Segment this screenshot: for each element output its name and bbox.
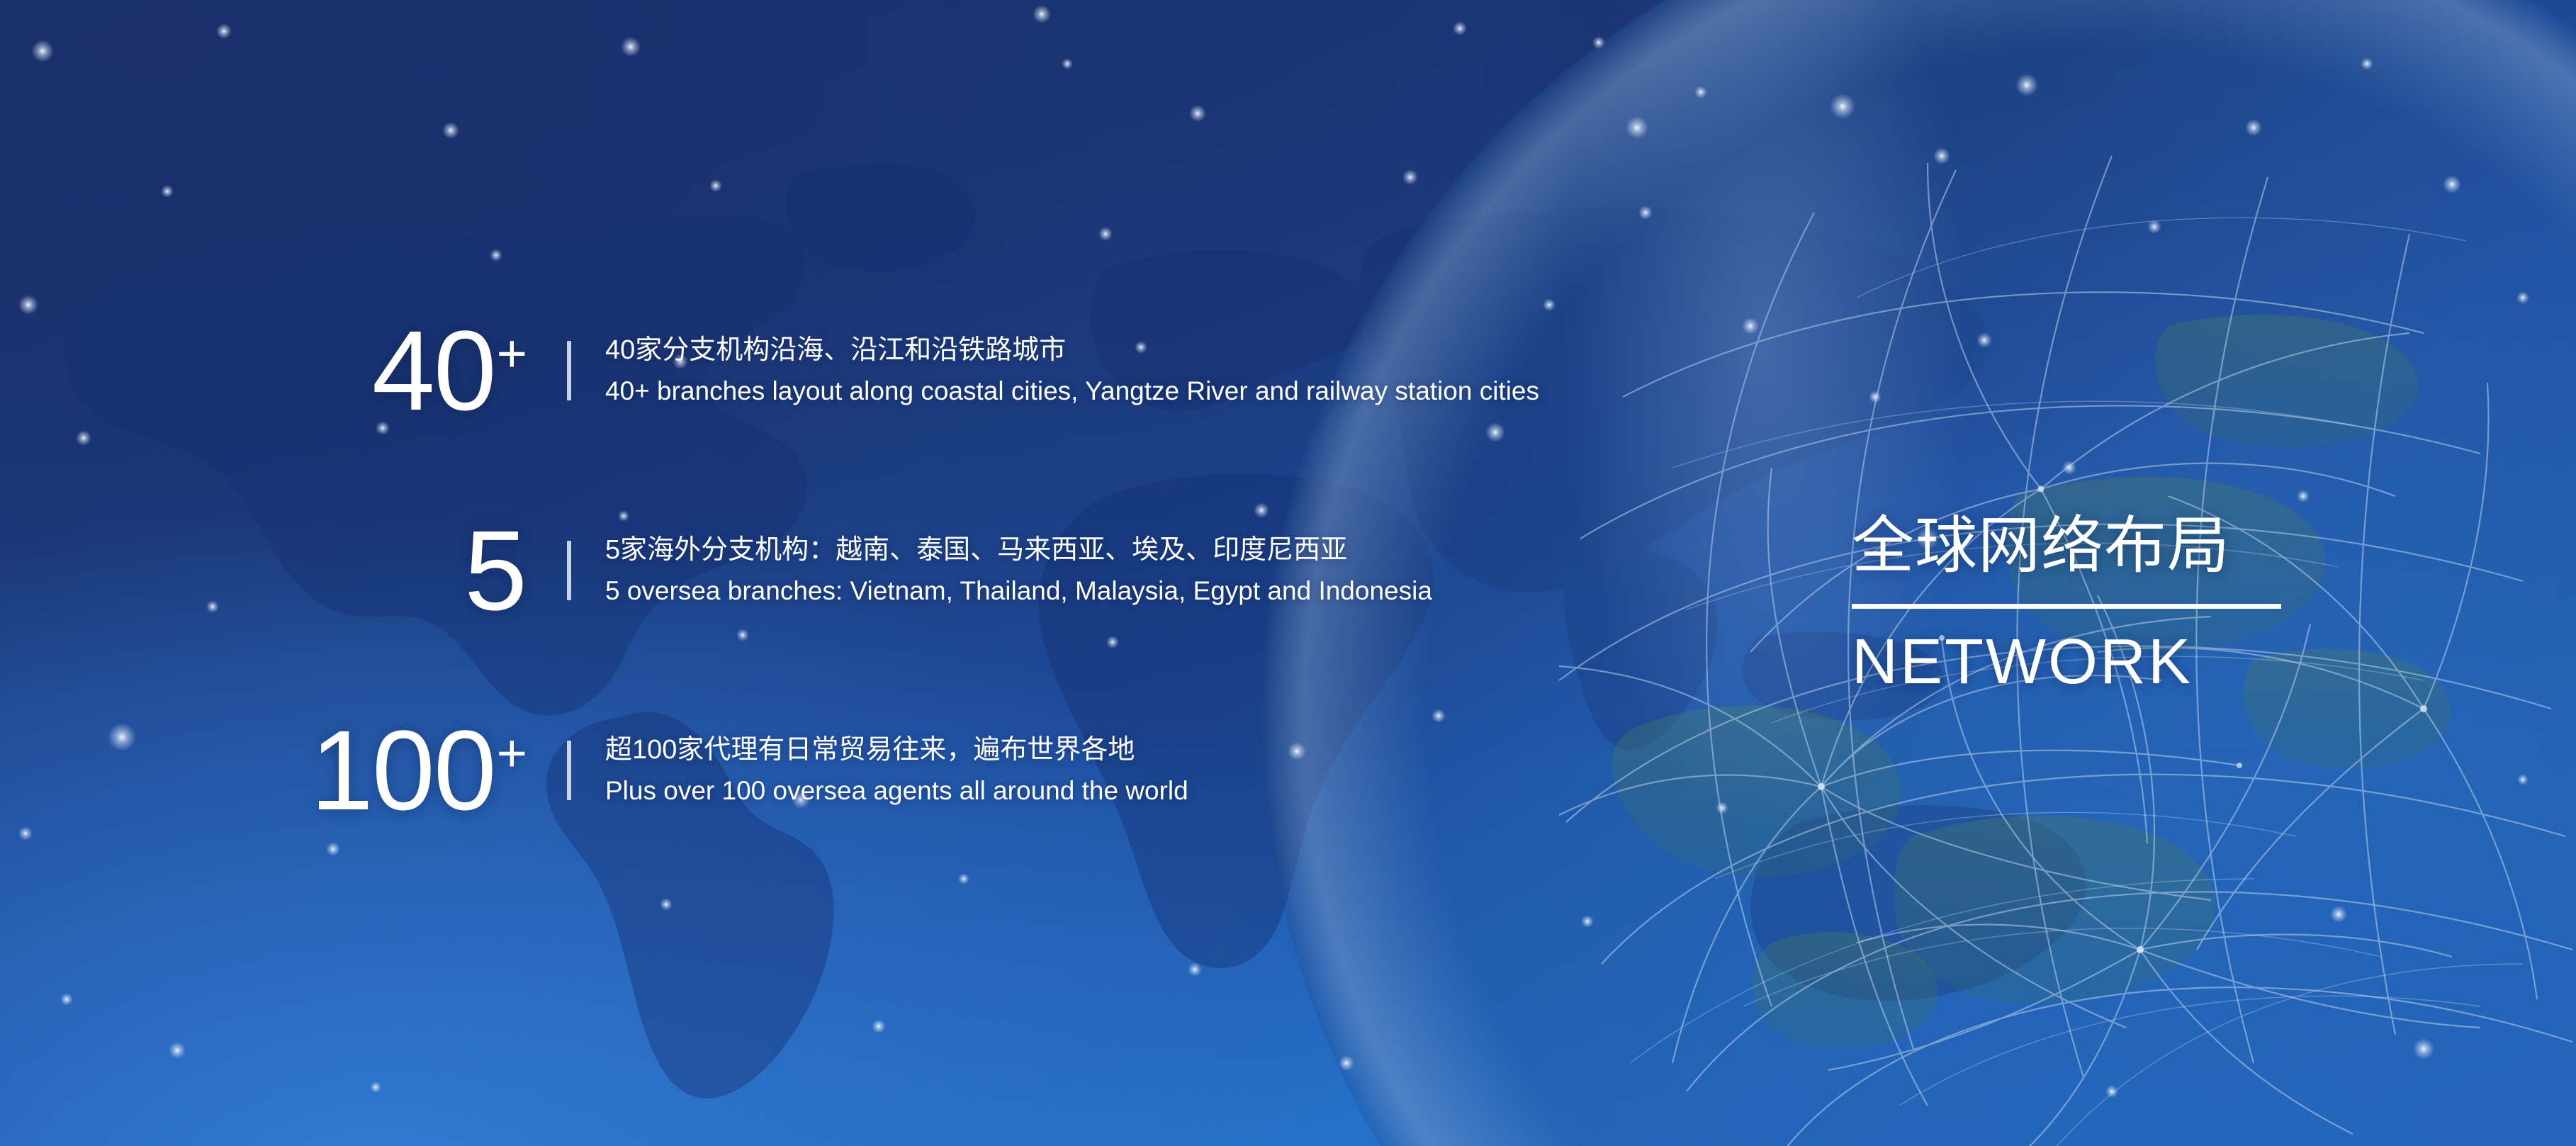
- stat-number-suffix: +: [497, 724, 527, 782]
- stats-list: 40+ 40家分支机构沿海、沿江和沿铁路城市 40+ branches layo…: [0, 306, 1630, 835]
- stat-number-value: 100: [310, 707, 495, 833]
- stat-text: 40家分支机构沿海、沿江和沿铁路城市 40+ branches layout a…: [571, 332, 1539, 410]
- stat-number-value: 5: [464, 507, 526, 634]
- title-chinese: 全球网络布局: [1852, 515, 2291, 577]
- title-underline: [1852, 604, 2281, 609]
- stat-text-cn: 5家海外分支机构：越南、泰国、马来西亚、埃及、印度尼西亚: [605, 532, 1432, 570]
- stat-row: 100+ 超100家代理有日常贸易往来，遍布世界各地 Plus over 100…: [0, 706, 1630, 835]
- stat-text-en: Plus over 100 oversea agents all around …: [605, 773, 1188, 810]
- stat-text-en: 40+ branches layout along coastal cities…: [605, 373, 1539, 410]
- stat-number: 100+: [0, 714, 567, 827]
- network-title-block: 全球网络布局 NETWORK: [1852, 515, 2291, 694]
- stat-number: 40+: [0, 314, 567, 427]
- stat-number: 5: [0, 514, 567, 627]
- stat-text: 超100家代理有日常贸易往来，遍布世界各地 Plus over 100 over…: [571, 731, 1188, 809]
- stat-text: 5家海外分支机构：越南、泰国、马来西亚、埃及、印度尼西亚 5 oversea b…: [571, 532, 1432, 609]
- stat-number-suffix: +: [497, 324, 527, 383]
- banner-content: 40+ 40家分支机构沿海、沿江和沿铁路城市 40+ branches layo…: [0, 0, 2576, 1146]
- global-network-banner: 40+ 40家分支机构沿海、沿江和沿铁路城市 40+ branches layo…: [0, 0, 2576, 1146]
- stat-text-cn: 超100家代理有日常贸易往来，遍布世界各地: [605, 731, 1188, 770]
- stat-number-value: 40: [372, 307, 495, 434]
- stat-text-en: 5 oversea branches: Vietnam, Thailand, M…: [605, 573, 1432, 610]
- stat-row: 5 5家海外分支机构：越南、泰国、马来西亚、埃及、印度尼西亚 5 oversea…: [0, 506, 1630, 635]
- title-english: NETWORK: [1852, 630, 2291, 694]
- stat-text-cn: 40家分支机构沿海、沿江和沿铁路城市: [605, 332, 1539, 370]
- stat-row: 40+ 40家分支机构沿海、沿江和沿铁路城市 40+ branches layo…: [0, 306, 1630, 435]
